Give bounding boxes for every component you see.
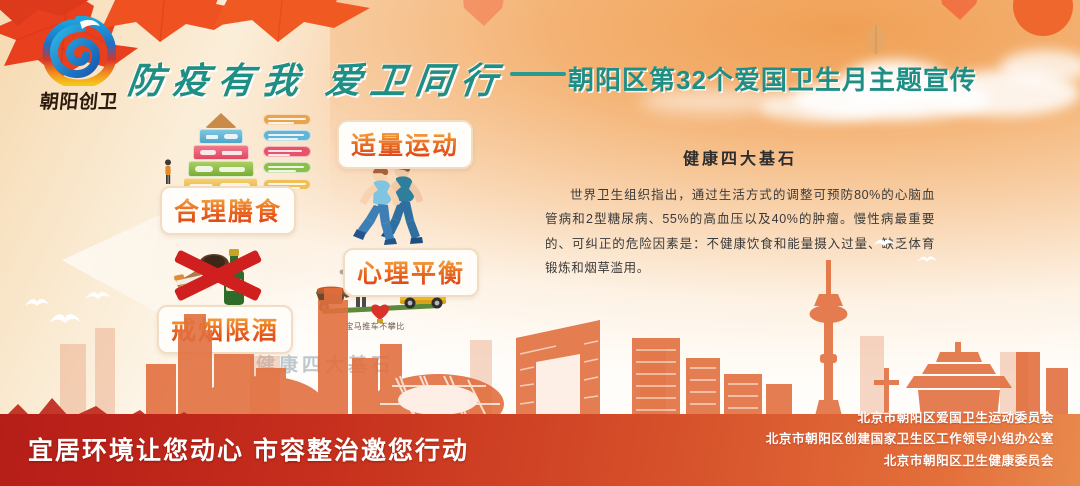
poster-root: 朝阳创卫 防疫有我 爱卫同行 朝阳区第32个爱国卫生月主题宣传: [0, 0, 1080, 486]
falling-leaf-icon: [452, 0, 516, 37]
pyramid-tag: [263, 114, 311, 125]
organization-line: 北京市朝阳区卫生健康委员会: [766, 451, 1054, 473]
phoenix-spiral-emblem-icon: [42, 16, 116, 86]
pyramid-tier: [205, 113, 237, 128]
bottom-slogan: 宜居环境让您动心 市容整治邀您行动: [28, 431, 469, 467]
falling-leaf-icon: [930, 0, 990, 29]
maple-leaf-icon: [200, 0, 370, 50]
pyramid-tag: [263, 130, 311, 141]
pyramid-tier: [199, 129, 243, 144]
logo: 朝阳创卫: [30, 16, 128, 112]
logo-wordmark: 朝阳创卫: [29, 87, 130, 114]
health-panel-title: 健康四大基石: [545, 145, 935, 169]
organization-line: 北京市朝阳区创建国家卫生区工作领导小组办公室: [766, 429, 1054, 451]
headline-subtitle: 朝阳区第32个爱国卫生月主题宣传: [568, 60, 977, 97]
pyramid-tag: [263, 146, 311, 157]
organization-list: 北京市朝阳区爱国卫生运动委员会 北京市朝阳区创建国家卫生区工作领导小组办公室 北…: [766, 408, 1054, 473]
food-pyramid-icon: [183, 113, 258, 195]
headline-calligraphy: 防疫有我 爱卫同行: [125, 52, 509, 104]
headline-dash: [510, 72, 566, 76]
bird-icon: [872, 236, 896, 254]
pyramid-tag: [263, 162, 311, 173]
pyramid-person-icon: [163, 159, 173, 185]
runners-icon: [344, 160, 432, 246]
organization-line: 北京市朝阳区爱国卫生运动委员会: [766, 408, 1054, 430]
falling-leaf-icon: [1006, 0, 1080, 57]
pillar-label-exercise: 适量运动: [337, 120, 473, 169]
pyramid-tier: [188, 161, 254, 177]
pillar-label-diet: 合理膳食: [160, 186, 296, 235]
pillar-label-diet-text: 合理膳食: [174, 198, 282, 226]
pillar-label-exercise-text: 适量运动: [351, 132, 459, 160]
headline: 防疫有我 爱卫同行 朝阳区第32个爱国卫生月主题宣传: [128, 52, 1028, 104]
pyramid-tier: [193, 145, 249, 160]
